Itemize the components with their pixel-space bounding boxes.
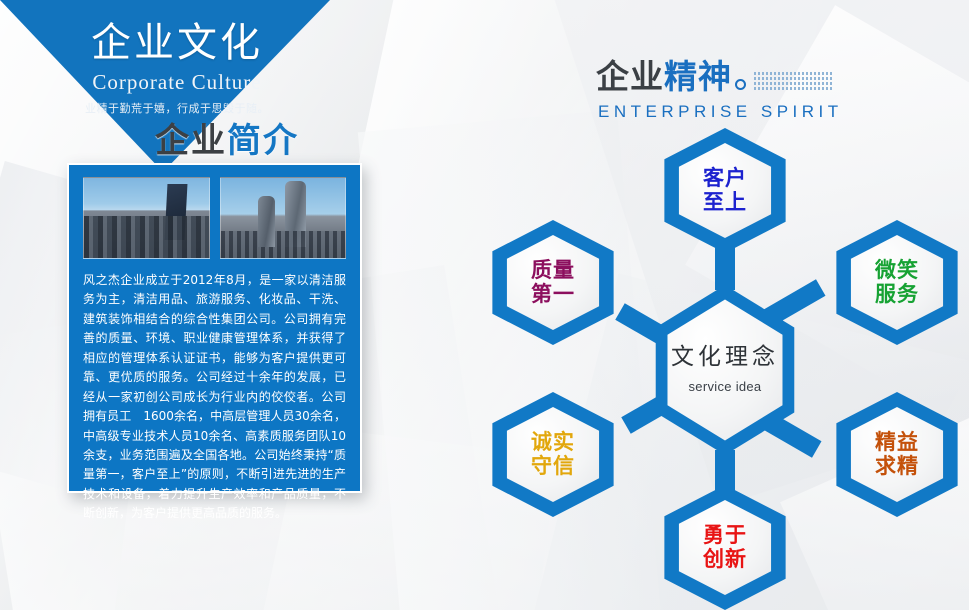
hex-inner-quality-first: 质量 第一 [500, 235, 606, 330]
enterprise-spirit-header: 企业 精神 ENTERPRISE SPIRIT [596, 50, 843, 122]
spirit-title-cn-blue: 精神 [664, 50, 732, 98]
spirit-title-cn-dark: 企业 [596, 50, 664, 98]
center-label-cn: 文化理念 [671, 345, 779, 371]
intro-heading-blue: 简介 [227, 121, 299, 161]
spirit-title-en: ENTERPRISE SPIRIT [598, 102, 843, 122]
hex-node-smile-service[interactable]: 微笑 服务 [827, 220, 967, 345]
hex-line1: 客户 [703, 167, 747, 191]
hex-line2: 第一 [531, 283, 575, 307]
hex-label-integrity: 诚实 守信 [531, 431, 575, 478]
hex-node-quality-first[interactable]: 质量 第一 [483, 220, 623, 345]
hex-line1: 微笑 [875, 259, 919, 283]
hex-inner-smile-service: 微笑 服务 [844, 235, 950, 330]
hex-label-excellence: 精益 求精 [875, 431, 919, 478]
hex-line2: 服务 [875, 283, 919, 307]
banner-title-en: Corporate Culture [0, 70, 330, 95]
hex-node-innovation[interactable]: 勇于 创新 [655, 485, 795, 610]
twin-glass-towers-photo [220, 177, 347, 259]
hex-label-customer-first: 客户 至上 [703, 167, 747, 214]
center-label-en: service idea [689, 380, 762, 395]
hex-label-smile-service: 微笑 服务 [875, 259, 919, 306]
hex-line2: 守信 [531, 455, 575, 479]
decorative-microtext [754, 72, 832, 92]
hex-line1: 诚实 [531, 431, 575, 455]
city-skyline-photo [83, 177, 210, 259]
hex-label-quality-first: 质量 第一 [531, 259, 575, 306]
hex-inner-innovation: 勇于 创新 [672, 500, 778, 595]
poster-canvas: 企业文化 Corporate Culture 业精于勤荒于嬉，行成于思毁于随。 … [0, 0, 969, 610]
hex-inner-center: 文化理念 service idea [659, 299, 792, 440]
spirit-title-row: 企业 精神 [596, 50, 843, 98]
intro-heading-dark: 企业 [155, 121, 227, 161]
hex-label-innovation: 勇于 创新 [703, 524, 747, 571]
company-intro-card: 风之杰企业成立于2012年8月，是一家以清洁服务为主，清洁用品、旅游服务、化妆品… [67, 163, 362, 493]
company-intro-heading: 企业简介 [155, 113, 299, 162]
hex-line1: 勇于 [703, 524, 747, 548]
hex-line1: 质量 [531, 259, 575, 283]
banner-title-cn: 企业文化 [0, 10, 330, 68]
spirit-dot-icon [735, 79, 746, 90]
hex-node-excellence[interactable]: 精益 求精 [827, 392, 967, 517]
company-intro-text: 风之杰企业成立于2012年8月，是一家以清洁服务为主，清洁用品、旅游服务、化妆品… [69, 259, 360, 534]
hex-line2: 至上 [703, 191, 747, 215]
hex-inner-customer-first: 客户 至上 [672, 143, 778, 238]
hex-inner-excellence: 精益 求精 [844, 407, 950, 502]
hex-line2: 创新 [703, 548, 747, 572]
culture-hexagon-diagram: 客户 至上 微笑 服务 精益 求精 [490, 120, 969, 610]
hex-inner-integrity: 诚实 守信 [500, 407, 606, 502]
hex-node-customer-first[interactable]: 客户 至上 [655, 128, 795, 253]
intro-photo-row [69, 165, 360, 259]
photo-foreground-shade [221, 231, 346, 258]
hex-line2: 求精 [875, 455, 919, 479]
hex-line1: 精益 [875, 431, 919, 455]
corporate-culture-banner-text: 企业文化 Corporate Culture 业精于勤荒于嬉，行成于思毁于随。 [0, 0, 330, 116]
hex-node-integrity[interactable]: 诚实 守信 [483, 392, 623, 517]
